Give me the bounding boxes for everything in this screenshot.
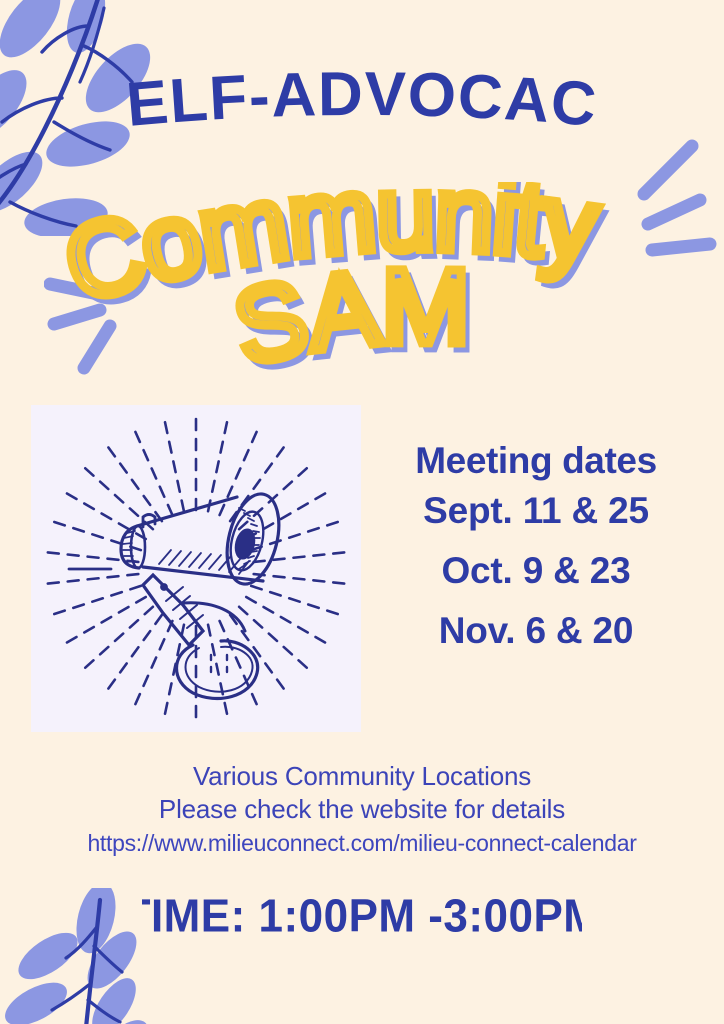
meeting-dates-block: Meeting dates Sept. 11 & 25 Oct. 9 & 23 … (366, 440, 706, 661)
meeting-date-row: Sept. 11 & 25 (366, 481, 706, 541)
svg-text:SELF-ADVOCACY: SELF-ADVOCACY (102, 66, 600, 140)
meeting-dates-title: Meeting dates (366, 440, 706, 481)
page-title: SELF-ADVOCACY (0, 66, 724, 146)
svg-text:SAM: SAM (224, 248, 469, 372)
meeting-date-row: Oct. 9 & 23 (366, 541, 706, 601)
calendar-url-link[interactable]: https://www.milieuconnect.com/milieu-con… (0, 828, 724, 858)
page-title-text: SELF-ADVOCACY (102, 66, 600, 140)
poster-canvas: SELF-ADVOCACY Community (0, 0, 724, 1024)
time-block: TIME: 1:00PM -3:00PM (0, 885, 724, 945)
subtitle-line-2: SAM (224, 248, 469, 372)
location-line-2: Please check the website for details (0, 793, 724, 826)
meeting-date-row: Nov. 6 & 20 (366, 601, 706, 661)
subtitle-community-sam: Community SAM Community SAM (60, 182, 680, 372)
megaphone-icon (31, 405, 361, 732)
megaphone-image-panel (31, 405, 361, 732)
time-label: TIME: 1:00PM -3:00PM (142, 889, 582, 941)
location-line-1: Various Community Locations (0, 760, 724, 793)
location-block: Various Community Locations Please check… (0, 760, 724, 858)
